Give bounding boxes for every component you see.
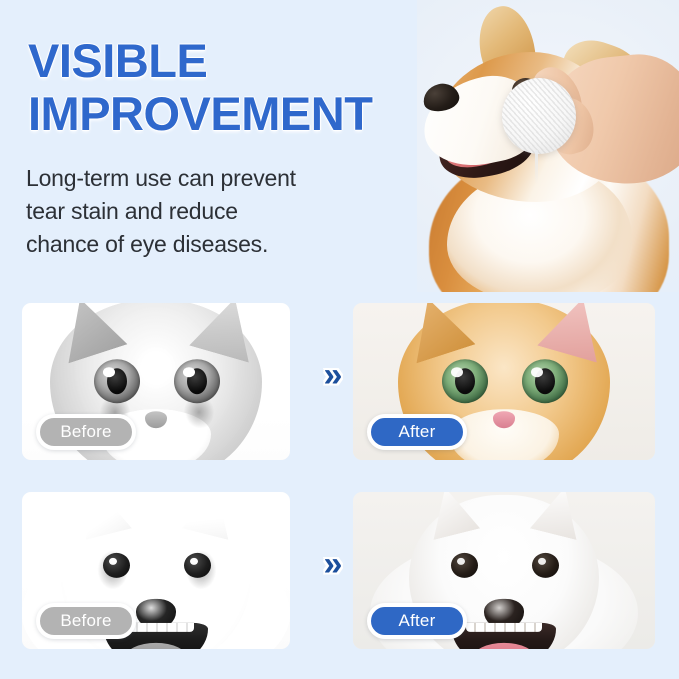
page-title-line-1: VISIBLE <box>28 34 207 87</box>
page-title: VISIBLE IMPROVEMENT <box>28 34 448 140</box>
hero-section: VISIBLE IMPROVEMENT Long-term use can pr… <box>0 0 679 292</box>
page-subcopy-line-1: Long-term use can prevent <box>26 165 296 191</box>
comparison-pair-dog: Before » After <box>0 492 679 649</box>
cat-eye-right <box>174 359 220 403</box>
cat-eye-right <box>522 359 568 403</box>
status-badge-after: After <box>367 603 467 639</box>
page-subcopy-line-2: tear stain and reduce <box>26 198 238 224</box>
arrow-right-icon: » <box>308 355 354 395</box>
before-card-dog: Before <box>22 492 290 649</box>
dog-eye-left <box>103 553 130 578</box>
dog-tongue <box>473 643 535 649</box>
after-card-dog: After <box>353 492 655 649</box>
page-title-line-2: IMPROVEMENT <box>28 87 372 140</box>
status-badge-before: Before <box>36 603 136 639</box>
page-subcopy-line-3: chance of eye diseases. <box>26 231 268 257</box>
status-badge-before: Before <box>36 414 136 450</box>
arrow-right-icon: » <box>308 544 354 584</box>
status-badge-after: After <box>367 414 467 450</box>
dog-eye-left <box>451 553 478 578</box>
hero-photo-corgi-wipe <box>417 0 679 292</box>
comparison-pair-cat: Before » After <box>0 303 679 460</box>
dog-eye-right <box>532 553 559 578</box>
dog-teeth <box>466 623 542 632</box>
dog-mouth <box>452 623 556 649</box>
cotton-pad <box>502 78 576 154</box>
cat-eye-left <box>442 359 488 403</box>
cat-eye-left <box>94 359 140 403</box>
after-card-cat: After <box>353 303 655 460</box>
liquid-drip <box>535 150 538 184</box>
dog-eye-right <box>184 553 211 578</box>
page-subcopy: Long-term use can prevent tear stain and… <box>26 162 386 261</box>
dog-tongue <box>125 643 187 649</box>
comparison-grid: Before » After <box>0 292 679 679</box>
before-card-cat: Before <box>22 303 290 460</box>
